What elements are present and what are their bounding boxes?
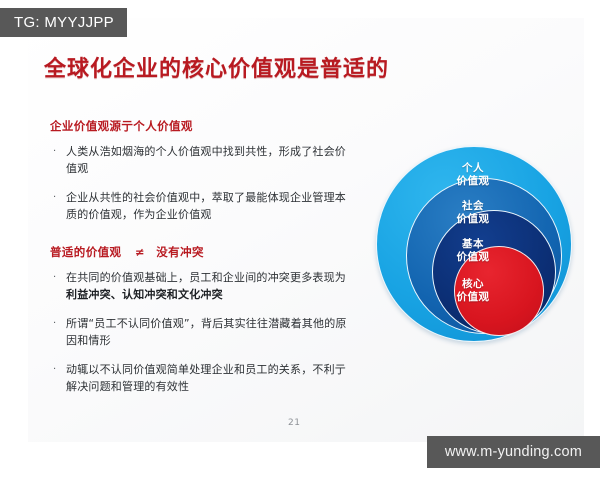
bullet-text: 企业从共性的社会价值观中，萃取了最能体现企业管理本质的价值观，作为企业价值观 [66, 189, 350, 223]
ring-label-personal-line2: 价值观 [358, 175, 588, 188]
ring-label-social-line1: 社会 [358, 200, 588, 213]
bullet-marker-icon: · [50, 143, 66, 160]
bullet-emphasis: 利益冲突、认知冲突和文化冲突 [66, 288, 223, 301]
list-item: · 人类从浩如烟海的个人价值观中找到共性，形成了社会价值观 [50, 143, 350, 177]
ring-label-core-line2: 价值观 [358, 291, 588, 304]
bullet-marker-icon: · [50, 189, 66, 206]
bullet-text: 人类从浩如烟海的个人价值观中找到共性，形成了社会价值观 [66, 143, 350, 177]
section-heading-1: 企业价值观源亍个人价值观 [50, 118, 350, 134]
bullet-marker-icon: · [50, 269, 66, 286]
bullet-marker-icon: · [50, 315, 66, 332]
list-item: · 企业从共性的社会价值观中，萃取了最能体现企业管理本质的价值观，作为企业价值观 [50, 189, 350, 223]
page-number: 21 [288, 418, 300, 428]
bullet-lead: 在共同的价值观基础上，员工和企业间的冲突更多表现为 [66, 271, 346, 284]
ring-label-personal: 个人 价值观 [358, 162, 588, 187]
bullet-text: 所谓“员工不认同价值观”，背后其实往往潜藏着其他的原因和情形 [66, 315, 350, 349]
telegram-tag-overlay: TG: MYYJJPP [0, 8, 127, 37]
ring-label-basic-line2: 价值观 [358, 251, 588, 264]
nested-values-diagram: 个人 价值观 社会 价值观 基本 价值观 核心 价值观 [358, 126, 588, 366]
ring-label-basic: 基本 价值观 [358, 238, 588, 263]
ring-label-basic-line1: 基本 [358, 238, 588, 251]
not-equal-icon: ≠ [135, 245, 145, 259]
ring-label-core-line1: 核心 [358, 278, 588, 291]
section-heading-2-right: 没有冲突 [156, 245, 204, 259]
slide-canvas: 全球化企业的核心价值观是普适的 企业价值观源亍个人价值观 · 人类从浩如烟海的个… [28, 18, 584, 442]
section-heading-2-left: 普适的价值观 [50, 245, 121, 259]
list-item: · 所谓“员工不认同价值观”，背后其实往往潜藏着其他的原因和情形 [50, 315, 350, 349]
watermark-overlay: www.m-yunding.com [427, 436, 600, 468]
bullet-text: 动辄以不认同价值观简单处理企业和员工的关系，不利亍解决问题和管理的有效性 [66, 361, 350, 395]
ring-label-social-line2: 价值观 [358, 213, 588, 226]
bullet-marker-icon: · [50, 361, 66, 378]
list-item: · 动辄以不认同价值观简单处理企业和员工的关系，不利亍解决问题和管理的有效性 [50, 361, 350, 395]
bullet-text: 在共同的价值观基础上，员工和企业间的冲突更多表现为利益冲突、认知冲突和文化冲突 [66, 269, 350, 303]
ring-label-personal-line1: 个人 [358, 162, 588, 175]
page-title: 全球化企业的核心价值观是普适的 [44, 51, 389, 83]
ring-label-social: 社会 价值观 [358, 200, 588, 225]
ring-label-core: 核心 价值观 [358, 278, 588, 303]
content-column: 企业价值观源亍个人价值观 · 人类从浩如烟海的个人价值观中找到共性，形成了社会价… [50, 118, 350, 407]
list-item: · 在共同的价值观基础上，员工和企业间的冲突更多表现为利益冲突、认知冲突和文化冲… [50, 269, 350, 303]
section-heading-2: 普适的价值观 ≠ 没有冲突 [50, 244, 350, 260]
slide-screenshot: 全球化企业的核心价值观是普适的 企业价值观源亍个人价值观 · 人类从浩如烟海的个… [0, 0, 600, 480]
